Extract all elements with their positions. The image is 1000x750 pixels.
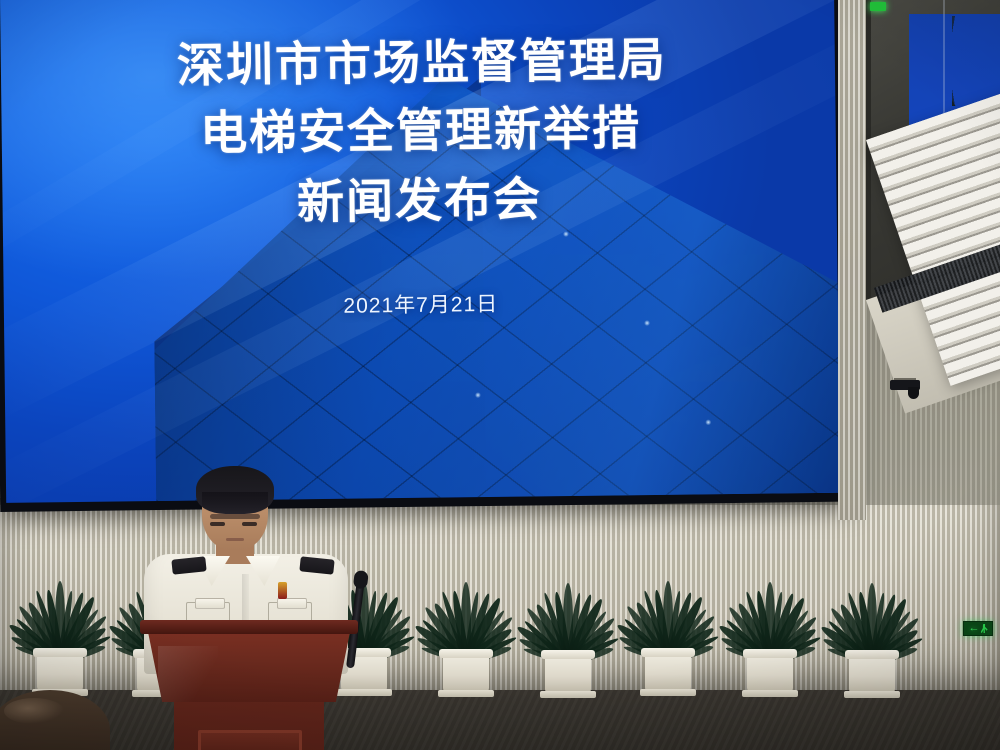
screen-date: 2021年7月21日 <box>343 288 498 320</box>
plant-foliage <box>812 552 932 662</box>
led-screen-bezel: 深圳市市场监督管理局 电梯安全管理新举措 新闻发布会 2021年7月21日 <box>0 0 852 512</box>
podium-top-surface <box>140 620 358 634</box>
exit-arrow-icon: ← <box>969 623 980 634</box>
hair <box>196 466 274 514</box>
podium-decorative-panel <box>198 730 302 750</box>
screen-title-line-1: 深圳市市场监督管理局 <box>177 30 668 96</box>
mouth <box>226 538 244 541</box>
press-conference-photo: 深圳市市场监督管理局 电梯安全管理新举措 新闻发布会 2021年7月21日 <box>0 0 1000 750</box>
eye-right <box>242 522 257 526</box>
eye-left <box>210 522 225 526</box>
right-wall-window-assembly <box>838 0 1000 520</box>
led-screen: 深圳市市场监督管理局 电梯安全管理新举措 新闻发布会 2021年7月21日 <box>0 0 840 503</box>
running-person-icon <box>981 624 988 633</box>
plant-pot <box>645 652 691 692</box>
uniform-badge <box>278 582 287 599</box>
window-mullion <box>838 0 866 520</box>
screen-title-line-3: 新闻发布会 <box>297 170 543 233</box>
security-camera-icon <box>890 378 924 400</box>
podium <box>140 620 358 750</box>
plant-pot <box>545 654 591 694</box>
screen-title-line-2: 电梯安全管理新举措 <box>200 98 642 164</box>
camera-lens <box>908 387 919 399</box>
emergency-exit-sign: ← <box>963 621 993 636</box>
podium-gloss <box>158 646 218 710</box>
potted-plant <box>812 540 932 694</box>
green-indicator-light <box>870 2 886 11</box>
brow <box>210 514 260 519</box>
plant-pot <box>37 652 83 692</box>
plant-pot <box>747 653 793 693</box>
window-reflection-foliage <box>952 16 996 106</box>
plant-pot <box>443 653 489 693</box>
screen-text-block: 深圳市市场监督管理局 电梯安全管理新举措 新闻发布会 2021年7月21日 <box>0 0 840 503</box>
podium-front-face <box>148 632 350 702</box>
plant-pot <box>849 654 895 694</box>
